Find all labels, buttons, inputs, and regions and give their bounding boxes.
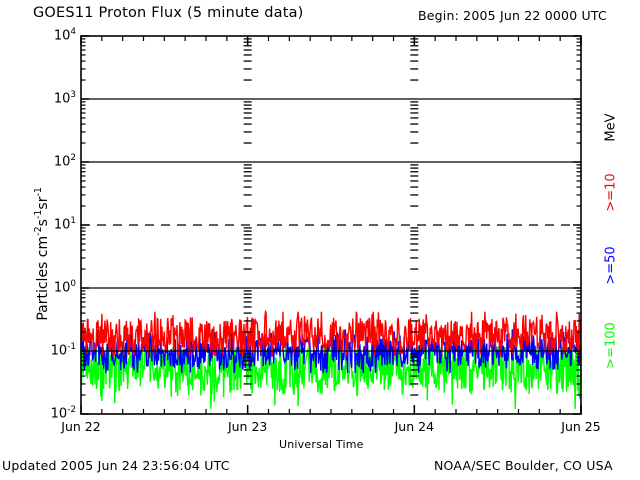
credit-label: NOAA/SEC Boulder, CO USA	[434, 458, 613, 473]
updated-timestamp: Updated 2005 Jun 24 23:56:04 UTC	[2, 458, 230, 473]
proton-flux-plot: GOES11 Proton Flux (5 minute data) Begin…	[0, 0, 640, 480]
plot-canvas	[0, 0, 640, 480]
